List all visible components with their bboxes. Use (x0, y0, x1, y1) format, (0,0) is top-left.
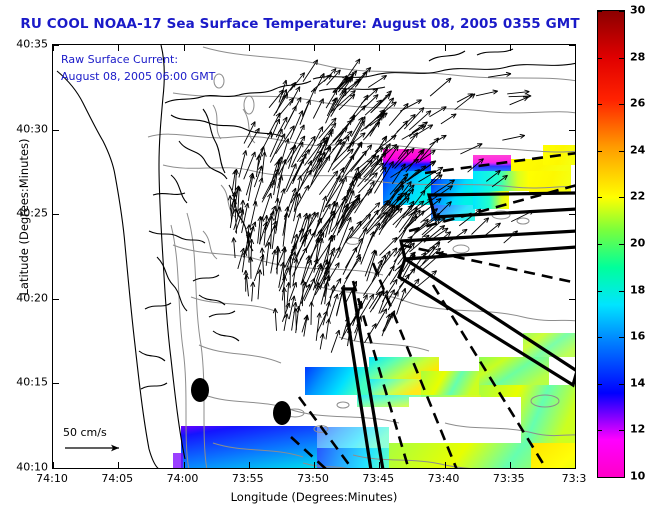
y-axis-title: Latitude (Degrees:Minutes) (17, 107, 31, 327)
colorbar-tick (598, 244, 602, 245)
annotation-line-1: Raw Surface Current: (61, 51, 215, 68)
x-axis-tick (510, 462, 511, 468)
colorbar (597, 10, 625, 478)
colorbar-tick-label: 28 (630, 50, 645, 63)
scale-legend-label: 50 cm/s (63, 426, 129, 439)
colorbar-tick (598, 151, 602, 152)
map-plot-area[interactable]: Raw Surface Current: August 08, 2005 06:… (52, 44, 576, 469)
colorbar-tick (598, 430, 602, 431)
annotation-line-2: August 08, 2005 06:00 GMT (61, 68, 215, 85)
colorbar-tick (619, 477, 624, 478)
x-axis-tick-label: 73:50 (297, 472, 329, 485)
y-axis-tick-label: 40:15 (16, 376, 48, 389)
station-marker (191, 378, 209, 402)
y-axis-tick (569, 214, 575, 215)
colorbar-tick-label: 22 (630, 190, 645, 203)
colorbar-tick-label: 14 (630, 376, 645, 389)
colorbar-tick-label: 24 (630, 143, 645, 156)
x-axis-tick-label: 73:40 (428, 472, 460, 485)
colorbar-tick (619, 384, 624, 385)
y-axis-tick (569, 383, 575, 384)
x-axis-tick (575, 45, 576, 51)
x-axis-tick-label: 74:05 (101, 472, 133, 485)
y-axis-tick (53, 45, 59, 46)
colorbar-tick-label: 30 (630, 4, 645, 17)
y-axis-tick (569, 299, 575, 300)
x-axis-tick-label: 74:10 (36, 472, 68, 485)
colorbar-tick (598, 197, 602, 198)
y-axis-tick (53, 383, 59, 384)
x-axis-tick (445, 462, 446, 468)
colorbar-tick-label: 18 (630, 283, 645, 296)
colorbar-tick (598, 291, 602, 292)
colorbar-tick (619, 11, 624, 12)
y-axis-tick (53, 130, 59, 131)
colorbar-tick-label: 12 (630, 423, 645, 436)
x-axis-tick (314, 45, 315, 51)
colorbar-tick (619, 197, 624, 198)
colorbar-tick (619, 430, 624, 431)
x-axis-tick (445, 45, 446, 51)
x-axis-tick (249, 462, 250, 468)
vector-scale-legend: 50 cm/s (63, 426, 129, 454)
x-axis-tick (249, 45, 250, 51)
figure-title: RU COOL NOAA-17 Sea Surface Temperature:… (0, 16, 600, 32)
colorbar-tick (619, 151, 624, 152)
x-axis-tick (379, 462, 380, 468)
scale-arrow-icon (63, 442, 129, 454)
station-marker (273, 401, 291, 425)
colorbar-tick (619, 244, 624, 245)
colorbar-tick-label: 20 (630, 237, 645, 250)
current-annotation: Raw Surface Current: August 08, 2005 06:… (61, 51, 215, 85)
sst-map-figure: RU COOL NOAA-17 Sea Surface Temperature:… (0, 0, 651, 518)
y-axis-tick (53, 468, 59, 469)
x-axis-tick-label: 73:35 (493, 472, 525, 485)
colorbar-tick-label: 16 (630, 330, 645, 343)
x-axis-tick-label: 74:00 (167, 472, 199, 485)
colorbar-tick (598, 477, 602, 478)
y-axis-tick (569, 468, 575, 469)
y-axis-tick-label: 40:10 (16, 461, 48, 474)
colorbar-tick (598, 337, 602, 338)
x-axis-title: Longitude (Degrees:Minutes) (52, 490, 576, 504)
colorbar-tick (619, 291, 624, 292)
x-axis-tick-label: 73:45 (362, 472, 394, 485)
y-axis-tick (569, 45, 575, 46)
x-axis-tick (379, 45, 380, 51)
x-axis-tick (118, 462, 119, 468)
colorbar-tick (619, 58, 624, 59)
colorbar-tick-label: 26 (630, 97, 645, 110)
x-axis-tick (575, 462, 576, 468)
colorbar-tick (598, 58, 602, 59)
colorbar-tick (598, 104, 602, 105)
colorbar-tick (619, 337, 624, 338)
y-axis-tick (53, 214, 59, 215)
x-axis-tick-label: 73:55 (232, 472, 264, 485)
colorbar-tick (598, 384, 602, 385)
colorbar-tick-label: 10 (630, 470, 645, 483)
x-axis-tick (184, 462, 185, 468)
y-axis-tick (569, 130, 575, 131)
x-axis-tick (314, 462, 315, 468)
colorbar-tick (619, 104, 624, 105)
y-axis-tick (53, 299, 59, 300)
colorbar-tick (598, 11, 602, 12)
x-axis-tick-label: 73:3 (562, 472, 587, 485)
radar-station-markers-layer (53, 45, 576, 469)
x-axis-tick (510, 45, 511, 51)
y-axis-tick-label: 40:35 (16, 38, 48, 51)
